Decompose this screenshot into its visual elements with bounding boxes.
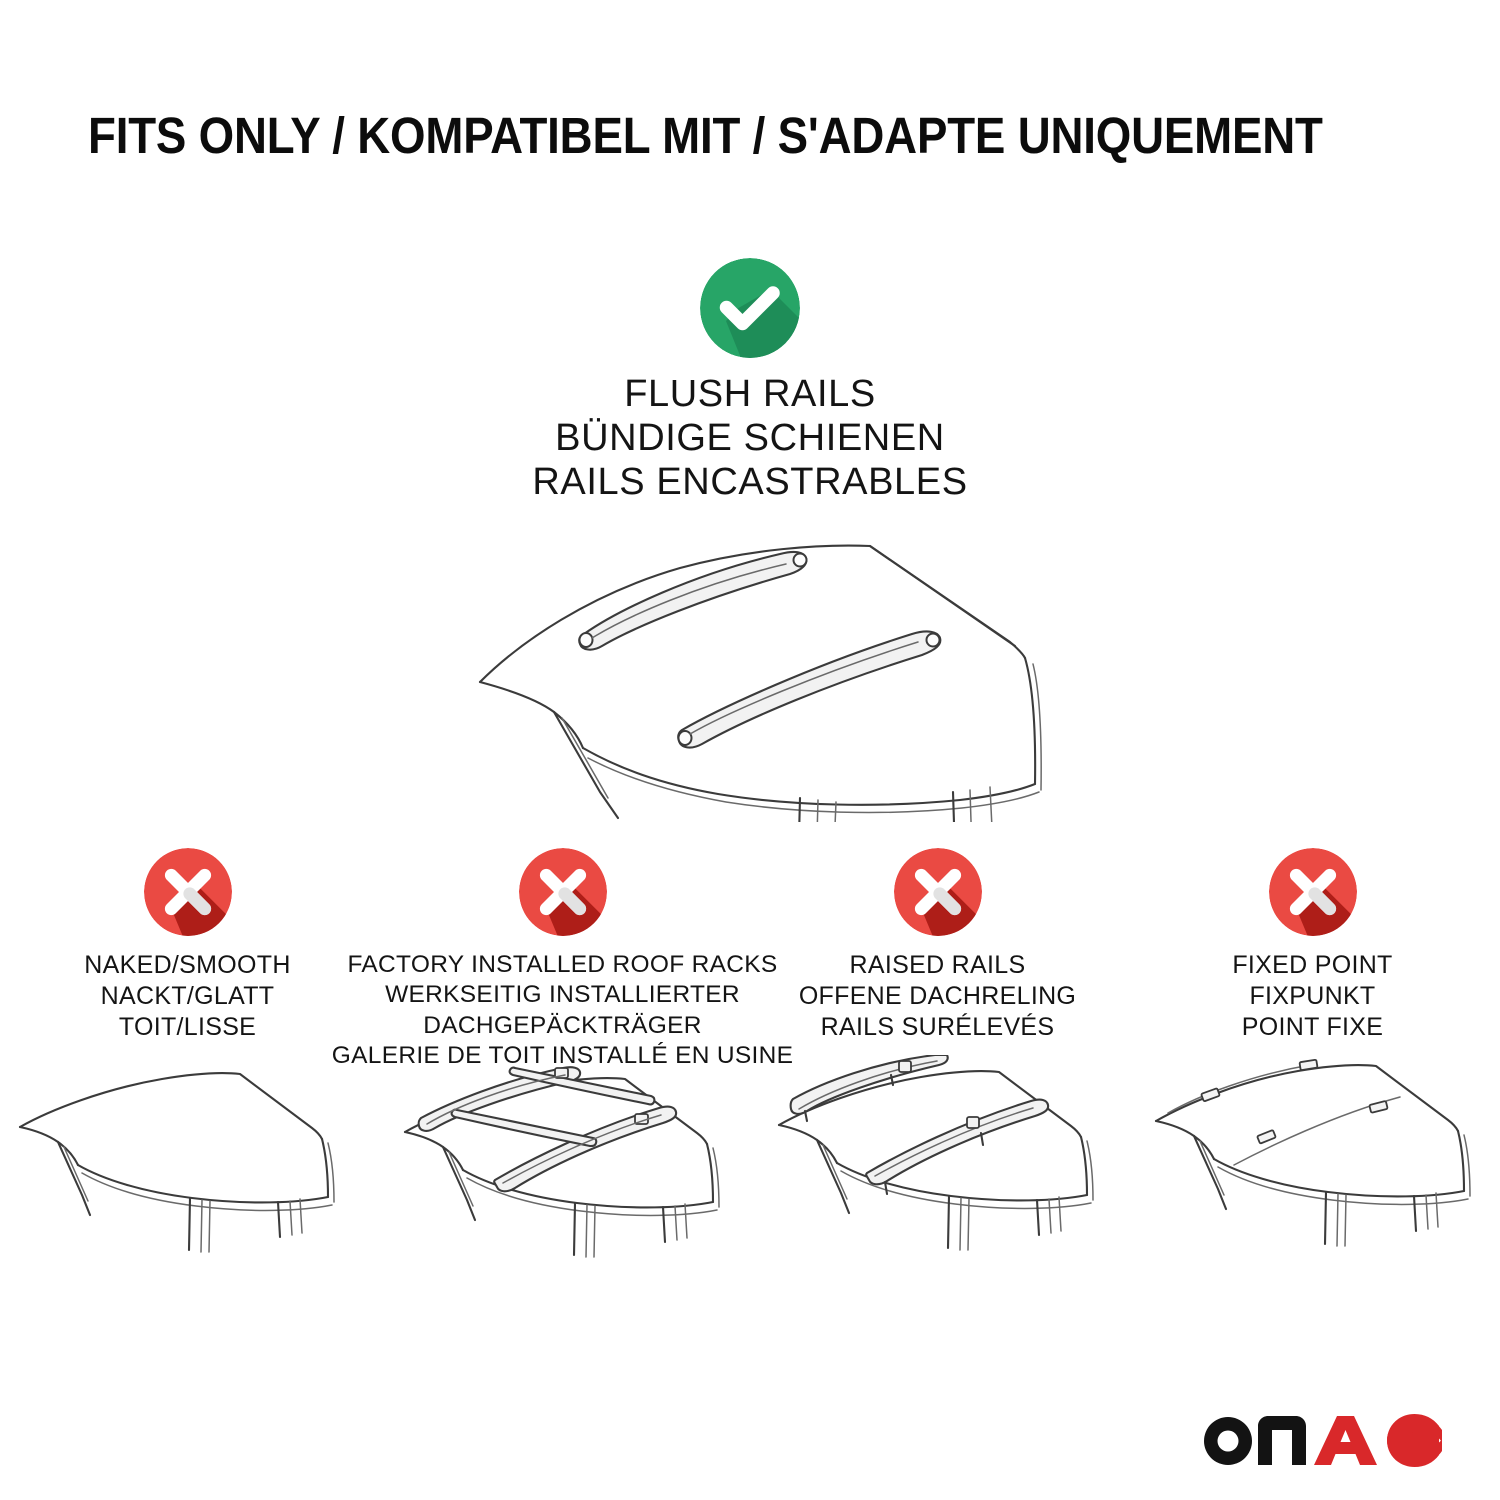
- label-line-de-2: DACHGEPÄCKTRÄGER: [332, 1011, 793, 1041]
- label-line-fr: RAILS SURÉLEVÉS: [799, 1012, 1076, 1043]
- incompatible-section: NAKED/SMOOTH NACKT/GLATT TOIT/LISSE: [0, 848, 1500, 1296]
- incompatible-option-factory-racks: FACTORY INSTALLED ROOF RACKS WERKSEITIG …: [375, 848, 750, 1296]
- label-line-de: OFFENE DACHRELING: [799, 981, 1076, 1012]
- incompatible-labels-raised-rails: RAISED RAILS OFFENE DACHRELING RAILS SUR…: [799, 950, 1076, 1043]
- car-roof-factory-racks-illustration: [397, 1066, 737, 1296]
- incompatible-option-naked: NAKED/SMOOTH NACKT/GLATT TOIT/LISSE: [0, 848, 375, 1296]
- label-line-de: NACKT/GLATT: [84, 981, 290, 1012]
- x-circle-icon: [1269, 848, 1357, 936]
- incompatible-option-fixed-point: FIXED POINT FIXPUNKT POINT FIXE: [1125, 848, 1500, 1296]
- car-roof-flush-rails-illustration: [450, 522, 1050, 822]
- omac-logo: [1196, 1406, 1442, 1470]
- incompatible-option-raised-rails: RAISED RAILS OFFENE DACHRELING RAILS SUR…: [750, 848, 1125, 1296]
- label-line-en: NAKED/SMOOTH: [84, 950, 290, 981]
- x-circle-icon: [894, 848, 982, 936]
- compatible-label-en: FLUSH RAILS: [532, 372, 967, 416]
- label-line-de-1: WERKSEITIG INSTALLIERTER: [332, 980, 793, 1010]
- page-title: FITS ONLY / KOMPATIBEL MIT / S'ADAPTE UN…: [88, 104, 1428, 166]
- x-circle-icon: [144, 848, 232, 936]
- label-line-en: RAISED RAILS: [799, 950, 1076, 981]
- label-line-en: FACTORY INSTALLED ROOF RACKS: [332, 950, 793, 980]
- car-roof-fixed-point-illustration: [1148, 1055, 1488, 1285]
- incompatible-labels-factory-racks: FACTORY INSTALLED ROOF RACKS WERKSEITIG …: [332, 950, 793, 1072]
- label-line-fr: TOIT/LISSE: [84, 1012, 290, 1043]
- compatible-labels: FLUSH RAILS BÜNDIGE SCHIENEN RAILS ENCAS…: [532, 372, 967, 504]
- page-title-text: FITS ONLY / KOMPATIBEL MIT / S'ADAPTE UN…: [88, 110, 1323, 161]
- car-roof-raised-rails-illustration: [771, 1055, 1111, 1285]
- label-line-de: FIXPUNKT: [1232, 981, 1392, 1012]
- compatible-label-de: BÜNDIGE SCHIENEN: [532, 416, 967, 460]
- x-circle-icon: [519, 848, 607, 936]
- compatible-label-fr: RAILS ENCASTRABLES: [532, 460, 967, 504]
- car-roof-naked-illustration: [12, 1055, 352, 1285]
- check-circle-icon: [700, 258, 800, 358]
- incompatible-labels-fixed-point: FIXED POINT FIXPUNKT POINT FIXE: [1232, 950, 1392, 1043]
- compatible-section: FLUSH RAILS BÜNDIGE SCHIENEN RAILS ENCAS…: [0, 258, 1500, 822]
- incompatible-labels-naked: NAKED/SMOOTH NACKT/GLATT TOIT/LISSE: [84, 950, 290, 1043]
- label-line-en: FIXED POINT: [1232, 950, 1392, 981]
- label-line-fr: POINT FIXE: [1232, 1012, 1392, 1043]
